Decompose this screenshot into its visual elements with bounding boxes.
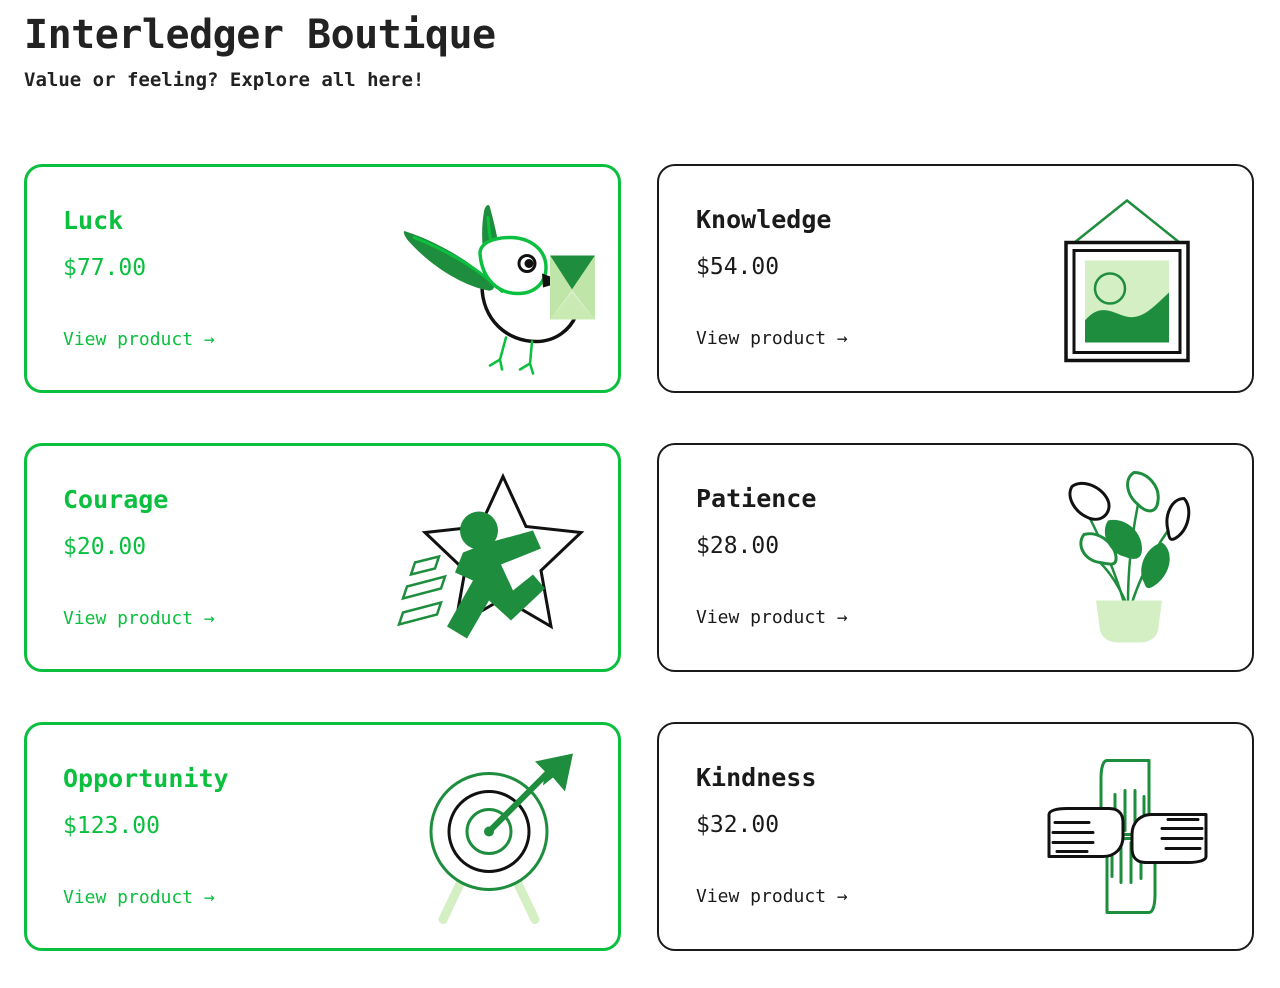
boutique-page: Interledger Boutique Value or feeling? E…: [0, 0, 1280, 988]
product-card-knowledge[interactable]: Knowledge $54.00 View product →: [657, 164, 1254, 393]
product-price: $54.00: [696, 255, 848, 280]
view-product-link[interactable]: View product →: [63, 609, 215, 629]
product-price: $20.00: [63, 535, 215, 560]
page-header: Interledger Boutique Value or feeling? E…: [24, 10, 496, 93]
product-name: Knowledge: [696, 206, 848, 234]
product-grid: Luck $77.00 View product →: [24, 164, 1256, 956]
product-info: Patience $28.00 View product →: [696, 485, 848, 628]
view-product-link[interactable]: View product →: [63, 888, 229, 908]
product-name: Luck: [63, 207, 215, 235]
product-info: Knowledge $54.00 View product →: [696, 206, 848, 349]
product-name: Patience: [696, 485, 848, 513]
bird-with-envelope-icon: [385, 191, 600, 366]
view-product-link[interactable]: View product →: [696, 887, 848, 907]
potted-plant-icon: [1042, 475, 1212, 640]
product-price: $77.00: [63, 256, 215, 281]
product-card-kindness[interactable]: Kindness $32.00 View product →: [657, 722, 1254, 951]
page-subtitle: Value or feeling? Explore all here!: [24, 68, 496, 93]
view-product-link[interactable]: View product →: [696, 608, 848, 628]
framed-picture-icon: [1042, 196, 1212, 361]
four-hands-icon: [1042, 754, 1212, 919]
view-product-link[interactable]: View product →: [696, 329, 848, 349]
page-title: Interledger Boutique: [24, 10, 496, 60]
product-price: $28.00: [696, 534, 848, 559]
product-info: Kindness $32.00 View product →: [696, 764, 848, 907]
product-info: Courage $20.00 View product →: [63, 486, 215, 629]
product-price: $32.00: [696, 813, 848, 838]
running-person-star-icon: [385, 470, 600, 645]
target-with-dart-icon: [385, 749, 600, 924]
product-card-patience[interactable]: Patience $28.00 View product →: [657, 443, 1254, 672]
product-card-opportunity[interactable]: Opportunity $123.00 View product →: [24, 722, 621, 951]
product-name: Opportunity: [63, 765, 229, 793]
product-name: Kindness: [696, 764, 848, 792]
product-info: Opportunity $123.00 View product →: [63, 765, 229, 908]
product-info: Luck $77.00 View product →: [63, 207, 215, 350]
product-price: $123.00: [63, 814, 229, 839]
product-name: Courage: [63, 486, 215, 514]
product-card-courage[interactable]: Courage $20.00 View product →: [24, 443, 621, 672]
product-card-luck[interactable]: Luck $77.00 View product →: [24, 164, 621, 393]
view-product-link[interactable]: View product →: [63, 330, 215, 350]
